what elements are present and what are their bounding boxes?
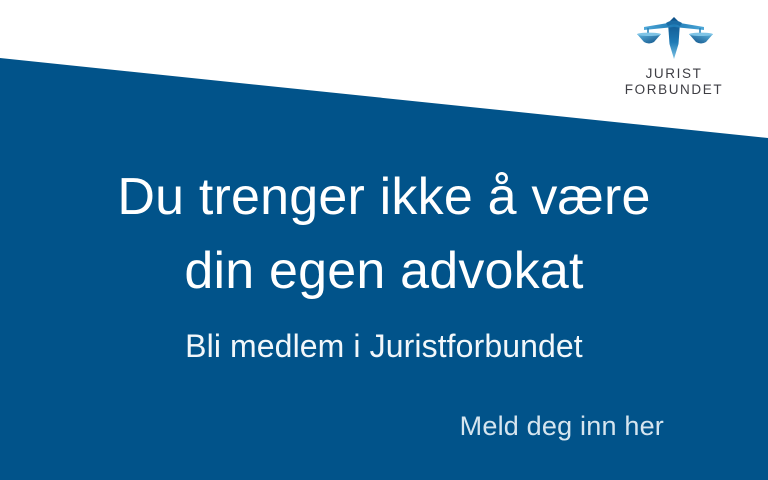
juristforbundet-logo[interactable]: JURIST FORBUNDET [622,14,726,98]
headline-line-1: Du trenger ikke å være [0,160,768,234]
headline: Du trenger ikke å være din egen advokat [0,160,768,308]
headline-line-2: din egen advokat [0,234,768,308]
logo-wordmark: JURIST FORBUNDET [625,66,723,98]
scales-of-justice-icon [630,14,718,62]
logo-wordmark-line2: FORBUNDET [625,82,723,98]
signup-cta-link[interactable]: Meld deg inn her [460,409,664,443]
subheadline: Bli medlem i Juristforbundet [0,325,768,367]
logo-wordmark-line1: JURIST [646,66,703,81]
juristforbundet-banner[interactable]: JURIST FORBUNDET Du trenger ikke å være … [0,0,768,480]
